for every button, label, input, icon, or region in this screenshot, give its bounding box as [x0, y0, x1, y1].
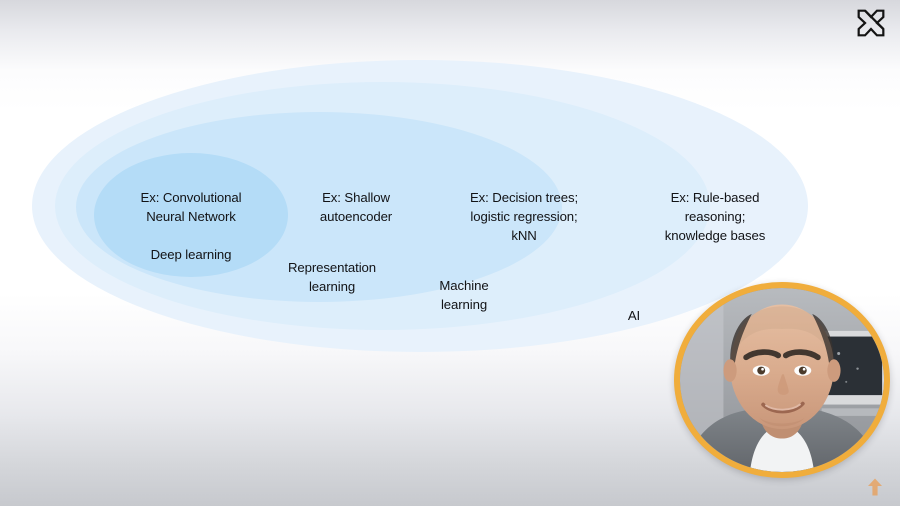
example-label-deep-learning: Ex: Convolutional Neural Network — [106, 188, 276, 226]
ring-label-ai: AI — [606, 306, 662, 325]
example-label-ai: Ex: Rule-based reasoning; knowledge base… — [632, 188, 798, 245]
slide-canvas: Ex: Convolutional Neural Network Deep le… — [0, 0, 900, 506]
webcam-bubble[interactable] — [674, 282, 890, 478]
example-label-machine-learning: Ex: Decision trees; logistic regression;… — [436, 188, 612, 245]
speaker-video-feed — [680, 288, 884, 472]
ring-label-representation-learning: Representation learning — [258, 258, 406, 296]
ring-label-deep-learning: Deep learning — [106, 245, 276, 264]
ring-label-machine-learning: Machine learning — [414, 276, 514, 314]
example-label-representation-learning: Ex: Shallow autoencoder — [272, 188, 440, 226]
stylized-x-logo-icon — [854, 6, 888, 40]
upload-arrow-icon[interactable] — [866, 477, 884, 497]
